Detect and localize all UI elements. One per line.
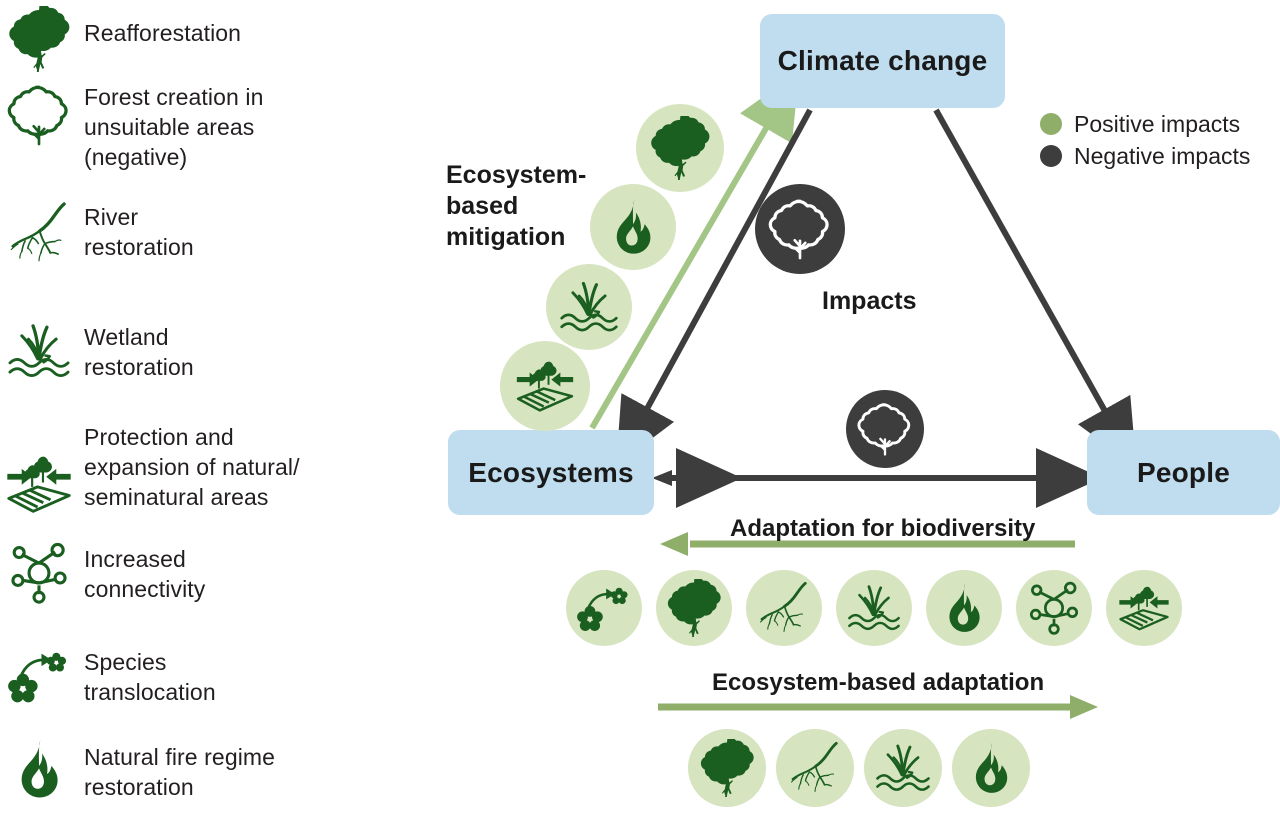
mitigation-badge-protection-expansion[interactable] [500,341,590,431]
species-translocation-icon [577,581,631,635]
biodiversity-badge-fire[interactable] [926,570,1002,646]
positive-impact-dot-icon [1040,113,1062,135]
climate-ecosystems-people-diagram: Climate change Ecosystems People Ecosyst… [420,0,1280,829]
biodiversity-badge-river[interactable] [746,570,822,646]
node-ecosystems-label: Ecosystems [468,457,633,489]
label-impacts: Impacts [822,287,916,316]
biodiversity-badge-connectivity[interactable] [1016,570,1092,646]
species-translocation-icon [0,645,78,707]
tree-filled-icon [0,6,78,72]
biodiversity-badge-wetland[interactable] [836,570,912,646]
legend-item-species-translocation: Species translocation [0,645,400,707]
impact-legend: Positive impacts Negative impacts [1040,108,1250,172]
icon-legend: Reafforestation Forest creation in unsui… [0,0,420,829]
biodiversity-badge-protection-expansion[interactable] [1106,570,1182,646]
river-icon [756,580,812,636]
legend-item-label: Natural fire regime restoration [78,738,275,802]
mitigation-badge-tree[interactable] [636,104,724,192]
negative-impact-dot-icon [1040,145,1062,167]
label-adaptation-for-biodiversity: Adaptation for biodiversity [730,515,1035,543]
node-people-label: People [1137,457,1230,489]
biodiversity-badge-tree[interactable] [656,570,732,646]
impact-legend-row-negative: Negative impacts [1040,140,1250,172]
legend-item-label: Forest creation in unsuitable areas (neg… [78,82,264,172]
eba-badge-river[interactable] [776,729,854,807]
biodiversity-badge-species-translocation[interactable] [566,570,642,646]
node-climate-change[interactable]: Climate change [760,14,1005,108]
protection-expansion-icon [1116,580,1172,636]
legend-item-label: Species translocation [78,645,216,707]
protection-expansion-icon [0,418,78,520]
river-icon [0,200,78,266]
wetland-icon [0,318,78,384]
wetland-icon [558,276,620,338]
eba-badge-wetland[interactable] [864,729,942,807]
fire-icon [964,741,1018,795]
fire-icon [938,582,990,634]
tree-filled-icon [665,579,723,637]
impact-legend-row-positive: Positive impacts [1040,108,1250,140]
tree-filled-icon [698,739,756,797]
impact-badge-forest-creation-upper[interactable] [755,184,845,274]
connectivity-icon [1027,581,1081,635]
connectivity-icon [0,542,78,604]
protection-expansion-icon [513,354,577,418]
legend-item-label: Protection and expansion of natural/ sem… [78,418,300,512]
legend-item-protection-expansion: Protection and expansion of natural/ sem… [0,418,420,520]
impact-legend-label: Positive impacts [1062,111,1240,138]
tree-filled-icon [648,116,712,180]
fire-icon [0,738,78,800]
impact-badge-forest-creation-lower[interactable] [846,390,924,468]
mitigation-badge-wetland[interactable] [546,264,632,350]
legend-item-label: Reafforestation [78,6,241,48]
eba-badge-fire[interactable] [952,729,1030,807]
legend-item-natural-fire-regime: Natural fire regime restoration [0,738,400,802]
legend-item-wetland-restoration: Wetland restoration [0,318,400,384]
mitigation-badge-fire[interactable] [590,184,676,270]
eba-badge-tree[interactable] [688,729,766,807]
label-ecosystem-based-adaptation: Ecosystem-based adaptation [712,669,1044,697]
label-ecosystem-based-mitigation: Ecosystem- based mitigation [446,160,586,253]
fire-icon [604,198,662,256]
legend-item-forest-creation-unsuitable: Forest creation in unsuitable areas (neg… [0,82,400,172]
wetland-icon [846,580,902,636]
impact-legend-label: Negative impacts [1062,143,1250,170]
legend-item-reafforestation: Reafforestation [0,6,400,72]
legend-item-river-restoration: River restoration [0,200,400,266]
legend-item-increased-connectivity: Increased connectivity [0,542,400,604]
tree-outline-icon [767,196,833,262]
tree-outline-icon [856,400,914,458]
river-icon [787,740,843,796]
legend-item-label: River restoration [78,200,194,262]
legend-item-label: Wetland restoration [78,318,194,382]
legend-item-label: Increased connectivity [78,542,205,604]
wetland-icon [874,739,932,797]
node-people[interactable]: People [1087,430,1280,515]
node-ecosystems[interactable]: Ecosystems [448,430,654,515]
tree-outline-icon [0,82,78,148]
node-climate-change-label: Climate change [778,45,988,77]
